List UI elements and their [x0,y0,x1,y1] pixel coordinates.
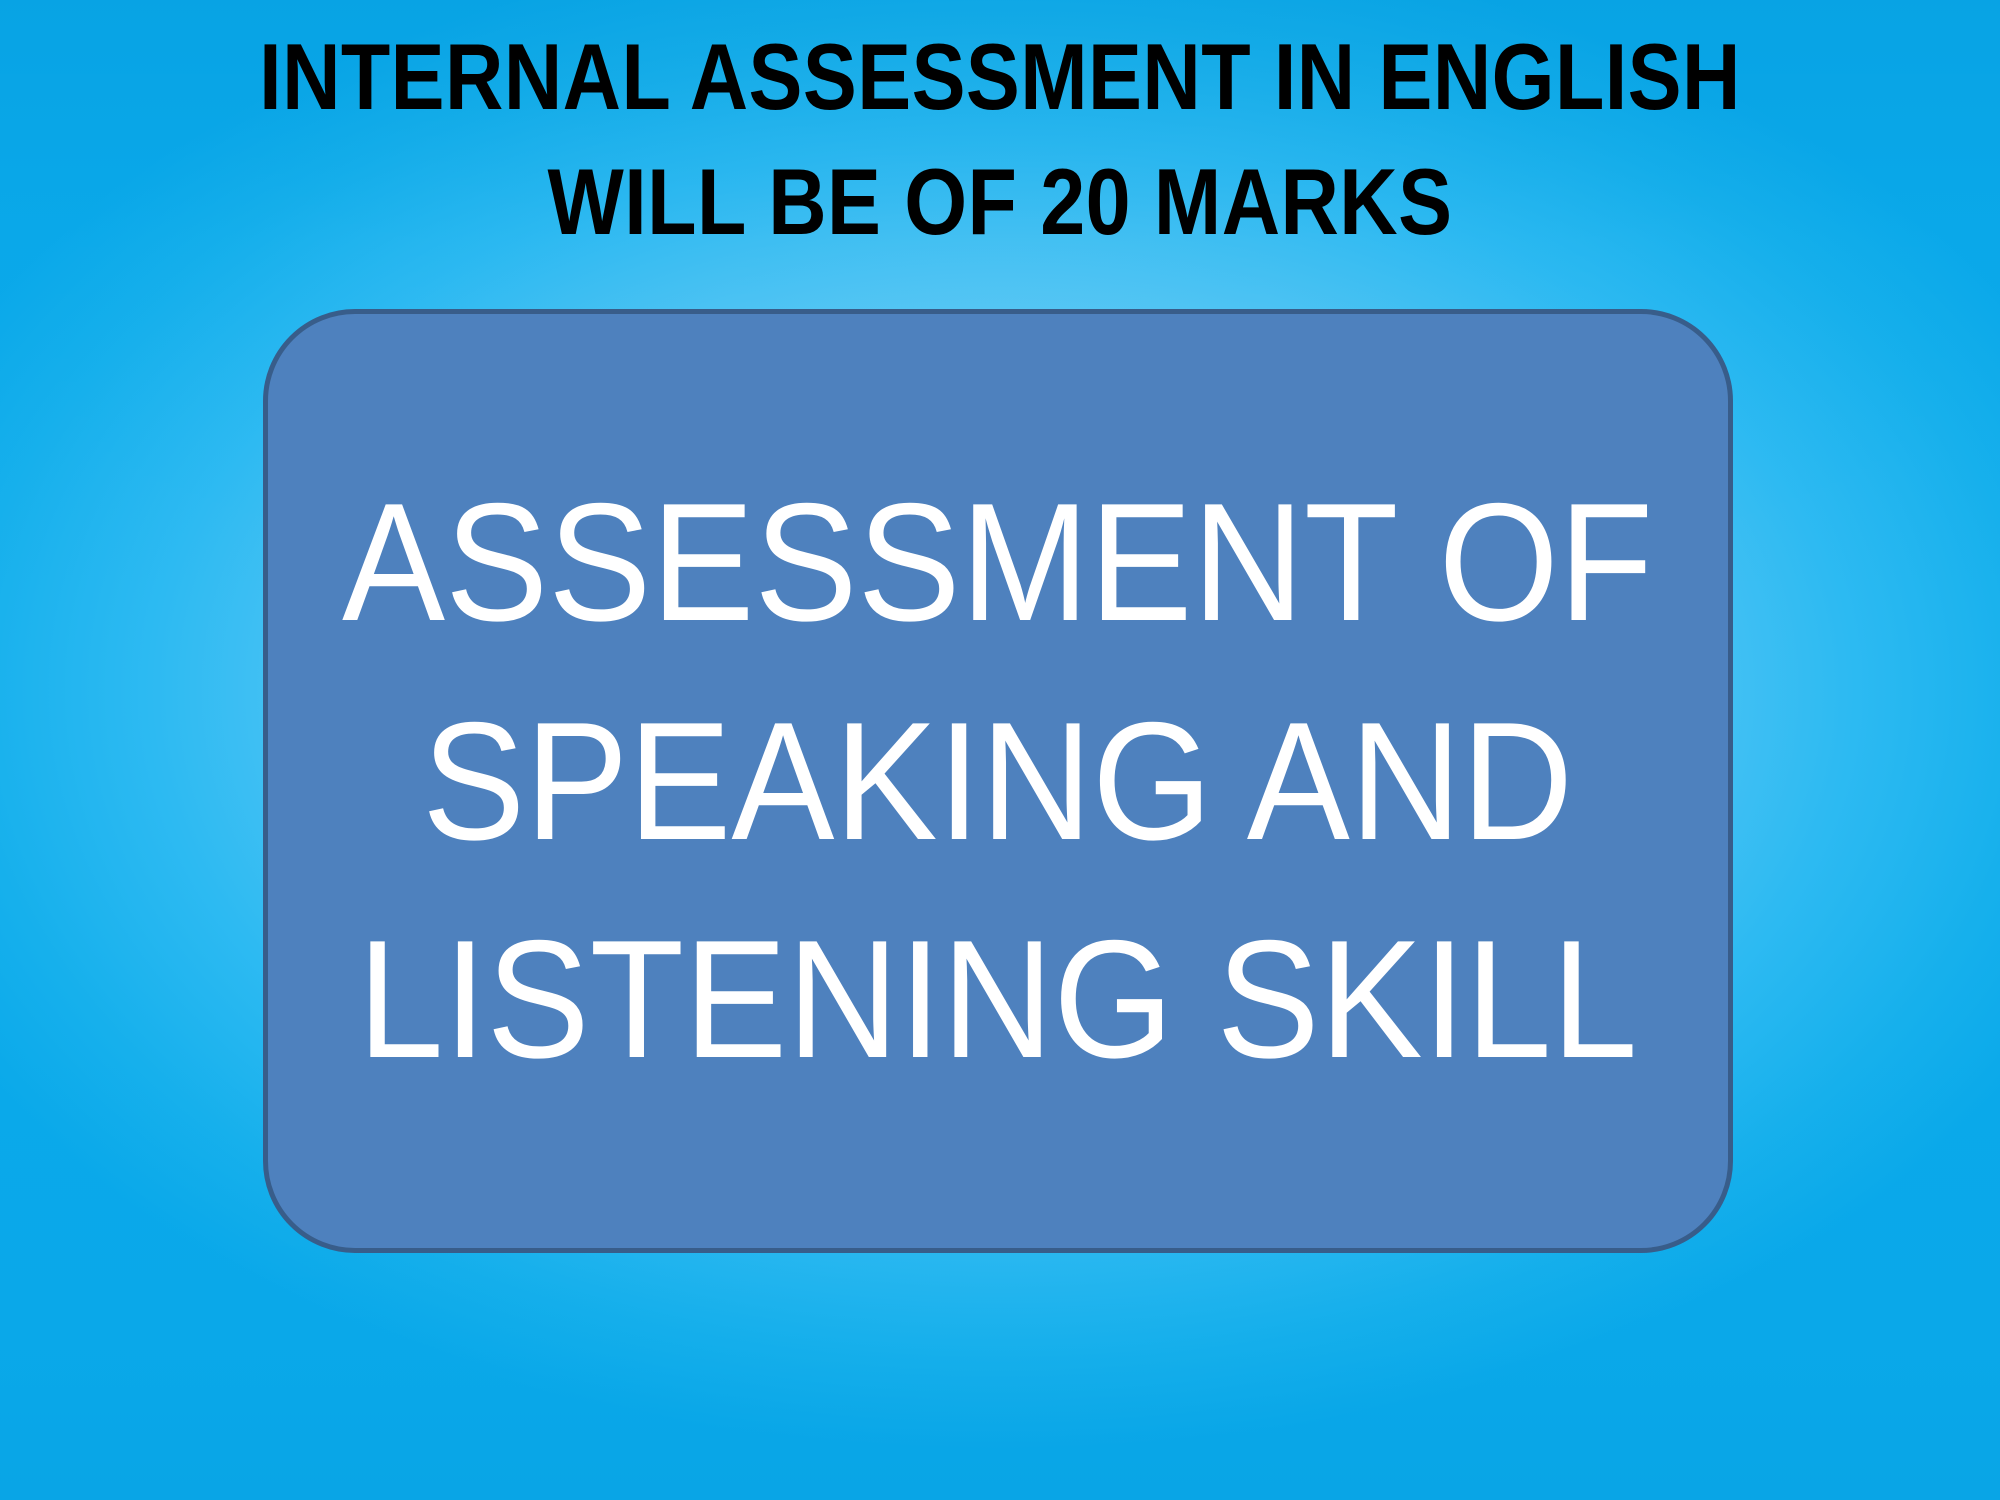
slide-content: INTERNAL ASSESSMENT IN ENGLISH WILL BE O… [0,0,2000,1500]
slide-title: INTERNAL ASSESSMENT IN ENGLISH WILL BE O… [140,14,1860,264]
slide-title-line-2: WILL BE OF 20 MARKS [140,139,1860,264]
slide-title-line-1: INTERNAL ASSESSMENT IN ENGLISH [140,14,1860,139]
content-box: ASSESSMENT OF SPEAKING AND LISTENING SKI… [263,309,1733,1253]
slide: INTERNAL ASSESSMENT IN ENGLISH WILL BE O… [0,0,2000,1500]
content-box-line-1: ASSESSMENT OF [342,453,1653,671]
content-box-text: ASSESSMENT OF SPEAKING AND LISTENING SKI… [342,453,1653,1108]
content-box-line-3: LISTENING SKILL [342,890,1653,1108]
content-box-line-2: SPEAKING AND [342,672,1653,890]
